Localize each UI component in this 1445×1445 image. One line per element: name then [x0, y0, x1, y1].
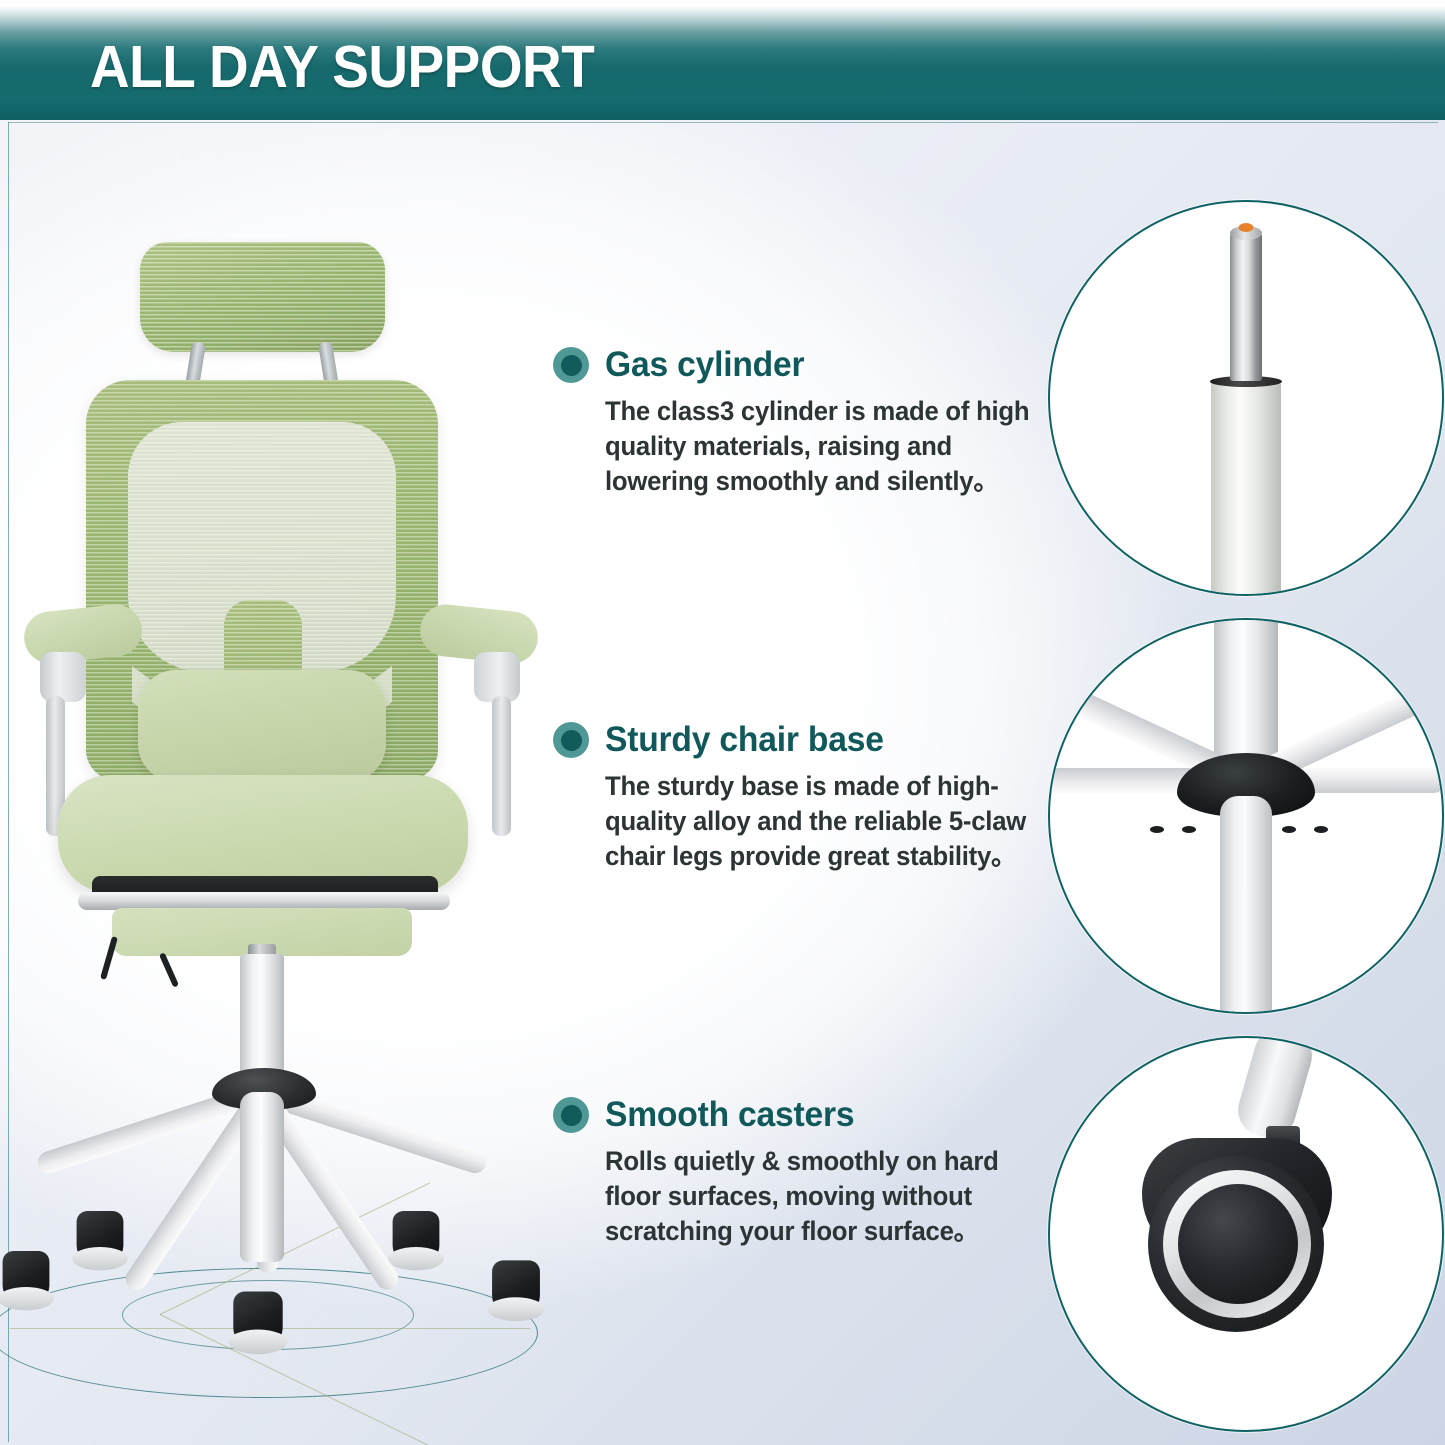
feature-heading-row: Gas cylinder [553, 345, 1073, 385]
base-photo-screw-3 [1282, 826, 1296, 833]
base-photo-screw-2 [1182, 826, 1196, 833]
chair-base-photo [1048, 618, 1444, 1014]
feature-description: The sturdy base is made of high-quality … [605, 769, 1061, 874]
chair-caster-1 [77, 1211, 124, 1265]
chair-gas-cylinder [240, 954, 284, 1084]
bullet-dot-icon [553, 347, 589, 383]
feature-item-gas-cylinder: Gas cylinder The class3 cylinder is made… [553, 345, 1073, 499]
caster-photo-hubcap [1178, 1184, 1298, 1304]
bullet-dot-icon [553, 722, 589, 758]
feature-item-sturdy-chair-base: Sturdy chair base The sturdy base is mad… [553, 720, 1073, 874]
feature-heading-row: Sturdy chair base [553, 720, 1073, 760]
gas-cylinder-chrome-rod [1230, 233, 1262, 381]
infographic-page: ALL DAY SUPPORT [0, 0, 1445, 1445]
header-banner: ALL DAY SUPPORT [0, 0, 1445, 120]
chair-caster-4 [492, 1260, 540, 1315]
adjustment-lever-right [159, 952, 179, 987]
chair-caster-2 [3, 1251, 50, 1305]
lumbar-pillow [138, 670, 386, 782]
gas-cylinder-tube [1211, 380, 1281, 596]
armrest-joint-left [40, 652, 86, 702]
armrest-joint-right [474, 652, 520, 702]
base-photo-stem [1220, 796, 1272, 1014]
feature-description: Rolls quietly & smoothly on hard floor s… [605, 1144, 1061, 1249]
bullet-dot-icon [553, 1097, 589, 1133]
chair-headrest [140, 242, 385, 352]
armrest-post-right [492, 696, 511, 836]
feature-item-smooth-casters: Smooth casters Rolls quietly & smoothly … [553, 1095, 1073, 1249]
base-center-column [240, 1092, 284, 1262]
base-photo-screw-1 [1150, 826, 1164, 833]
page-title: ALL DAY SUPPORT [90, 36, 594, 98]
product-chair-image [0, 130, 560, 1320]
feature-title: Gas cylinder [605, 345, 804, 385]
chair-caster-3 [393, 1211, 440, 1265]
caster-photo [1048, 1036, 1444, 1432]
feature-heading-row: Smooth casters [553, 1095, 1073, 1135]
feature-title: Smooth casters [605, 1095, 854, 1135]
feature-title: Sturdy chair base [605, 720, 884, 760]
gas-cylinder-orange-tip-icon [1239, 223, 1254, 232]
base-photo-screw-4 [1314, 826, 1328, 833]
base-photo-column [1214, 618, 1278, 774]
chair-caster-5 [233, 1292, 282, 1349]
content-top-divider [8, 122, 1438, 123]
adjustment-lever-left [100, 936, 118, 980]
gas-cylinder-photo [1048, 200, 1444, 596]
feature-description: The class3 cylinder is made of high qual… [605, 394, 1061, 499]
